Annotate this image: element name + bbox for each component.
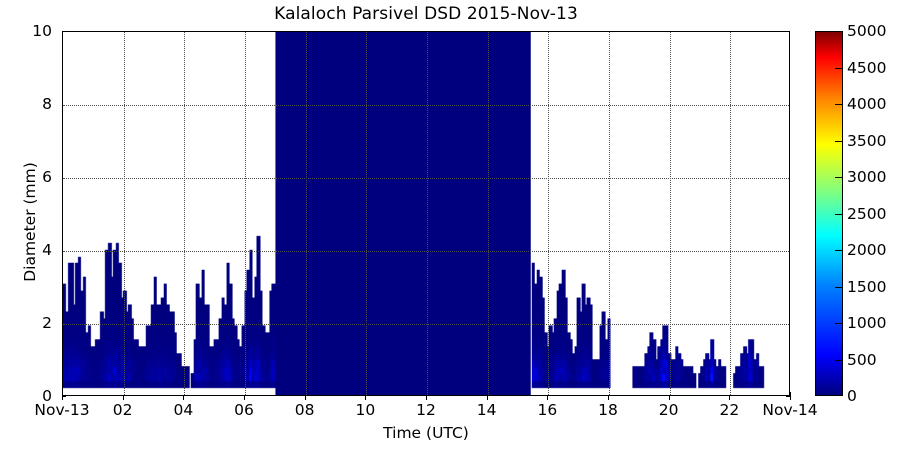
x-tick bbox=[608, 396, 609, 400]
x-tick bbox=[547, 396, 548, 400]
y-tick-inner bbox=[786, 396, 790, 397]
x-tick-label: 10 bbox=[355, 401, 375, 419]
colorbar-tick bbox=[835, 287, 842, 288]
colorbar-tick-label: 1000 bbox=[847, 314, 886, 332]
x-tick bbox=[244, 396, 245, 400]
x-tick-label: 16 bbox=[537, 401, 557, 419]
x-tick bbox=[729, 396, 730, 400]
x-tick bbox=[669, 396, 670, 400]
x-tick-label: 20 bbox=[659, 401, 679, 419]
colorbar-tick-label: 0 bbox=[847, 387, 857, 405]
colorbar-tick-label: 3000 bbox=[847, 168, 886, 186]
x-tick-label: 12 bbox=[416, 401, 436, 419]
colorbar-tick bbox=[835, 141, 842, 142]
x-tick-label: 08 bbox=[295, 401, 315, 419]
y-axis-label: Diameter (mm) bbox=[21, 42, 39, 402]
x-tick bbox=[305, 396, 306, 400]
colorbar-tick-label: 3500 bbox=[847, 132, 886, 150]
colorbar-tick-label: 2000 bbox=[847, 241, 886, 259]
colorbar-tick-label: 1500 bbox=[847, 278, 886, 296]
colorbar-tick bbox=[835, 68, 842, 69]
x-tick bbox=[123, 396, 124, 400]
colorbar-tick bbox=[835, 250, 842, 251]
colorbar-tick bbox=[835, 323, 842, 324]
x-tick bbox=[365, 396, 366, 400]
x-tick-label: 04 bbox=[173, 401, 193, 419]
x-tick bbox=[426, 396, 427, 400]
dsd-figure: Kalaloch Parsivel DSD 2015-Nov-13 Nov-13… bbox=[0, 0, 924, 454]
heatmap-canvas bbox=[63, 32, 789, 395]
colorbar-tick-label: 4500 bbox=[847, 59, 886, 77]
x-tick bbox=[487, 396, 488, 400]
colorbar-tick-label: 2500 bbox=[847, 205, 886, 223]
x-tick bbox=[183, 396, 184, 400]
colorbar-tick bbox=[835, 104, 842, 105]
colorbar-tick bbox=[835, 360, 842, 361]
x-tick-label: 18 bbox=[598, 401, 618, 419]
x-tick-label: Nov-14 bbox=[762, 401, 817, 419]
colorbar-tick bbox=[835, 214, 842, 215]
x-axis-label: Time (UTC) bbox=[62, 424, 790, 442]
x-tick-label: 06 bbox=[234, 401, 254, 419]
colorbar-tick-label: 4000 bbox=[847, 95, 886, 113]
x-tick-label: 22 bbox=[719, 401, 739, 419]
colorbar-tick-label: 500 bbox=[847, 351, 877, 369]
x-tick-inner bbox=[790, 392, 791, 396]
page-title: Kalaloch Parsivel DSD 2015-Nov-13 bbox=[62, 4, 790, 24]
x-tick-label: 14 bbox=[477, 401, 497, 419]
x-tick bbox=[790, 396, 791, 400]
y-tick-label: 10 bbox=[0, 22, 52, 40]
x-tick-label: 02 bbox=[113, 401, 133, 419]
plot-area bbox=[62, 31, 790, 396]
colorbar-tick bbox=[835, 177, 842, 178]
y-tick bbox=[62, 396, 66, 397]
colorbar-tick-label: 5000 bbox=[847, 22, 886, 40]
